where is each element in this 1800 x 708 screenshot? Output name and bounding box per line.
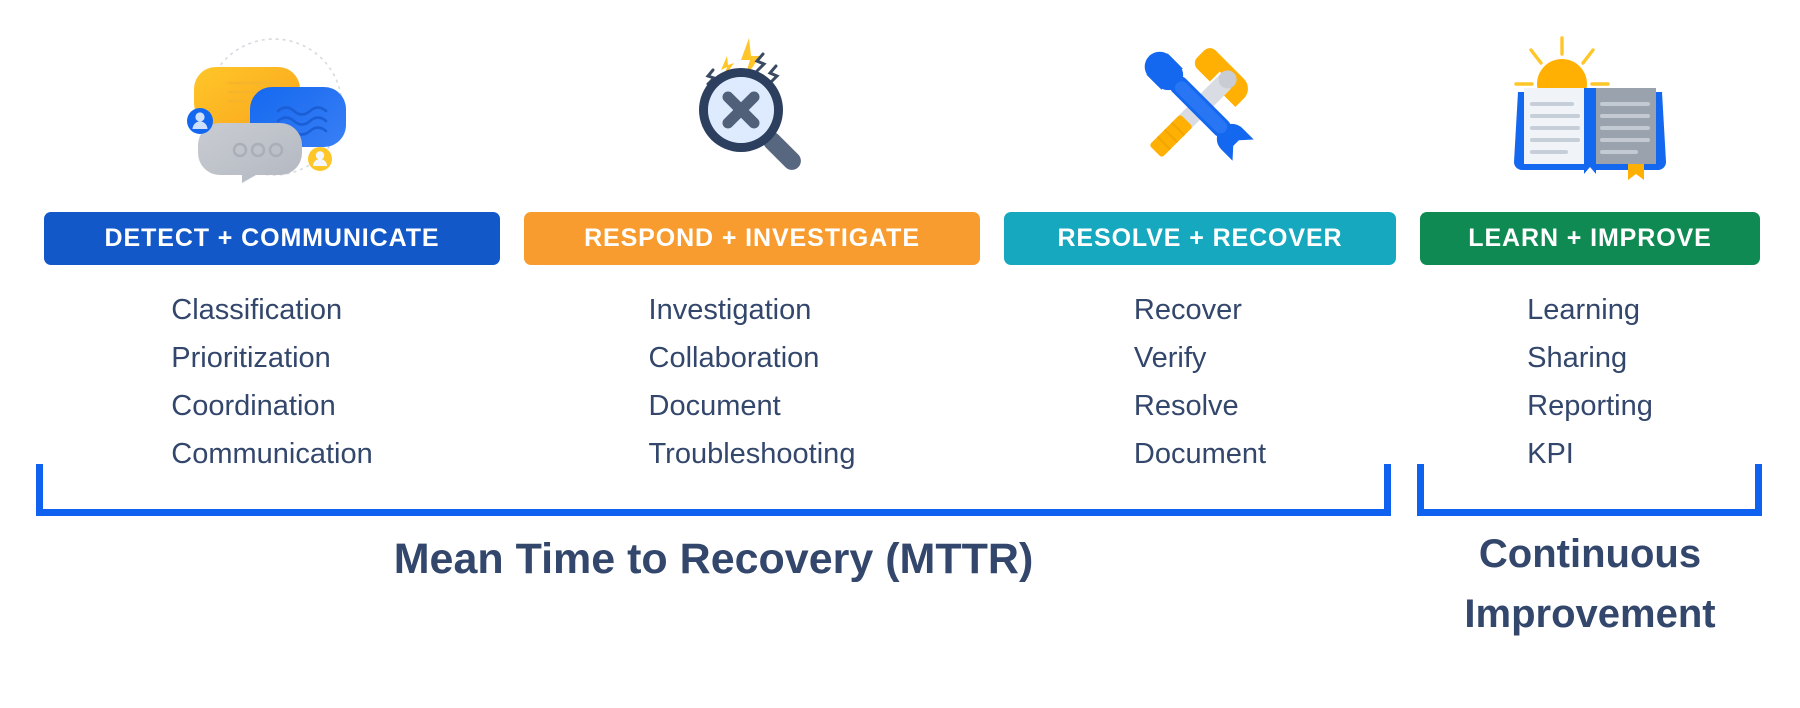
stage-column-detect-communicate: DETECT + COMMUNICATE Classification Prio… <box>44 0 500 520</box>
stage-items-detect-communicate: Classification Prioritization Coordinati… <box>44 286 500 478</box>
list-item: Investigation <box>649 286 856 334</box>
list-item: Prioritization <box>171 334 372 382</box>
stage-header-label: RESOLVE + RECOVER <box>1057 226 1342 251</box>
stage-items-resolve-recover: Recover Verify Resolve Document <box>1004 286 1396 478</box>
hammer-wrench-icon <box>1004 28 1396 186</box>
stage-column-respond-investigate: RESPOND + INVESTIGATE Investigation Coll… <box>524 0 980 520</box>
list-item: Collaboration <box>649 334 856 382</box>
book-lightbulb-icon <box>1420 28 1760 186</box>
stage-column-resolve-recover: RESOLVE + RECOVER Recover Verify Resolve… <box>1004 0 1396 520</box>
list-item: Reporting <box>1527 382 1653 430</box>
caption-continuous-improvement: Continuous Improvement <box>1400 524 1780 644</box>
stage-header-learn-improve[interactable]: LEARN + IMPROVE <box>1420 212 1760 265</box>
caption-mttr: Mean Time to Recovery (MTTR) <box>36 530 1391 588</box>
stage-column-learn-improve: LEARN + IMPROVE Learning Sharing Reporti… <box>1420 0 1760 520</box>
stage-header-label: LEARN + IMPROVE <box>1468 226 1711 251</box>
stage-header-resolve-recover[interactable]: RESOLVE + RECOVER <box>1004 212 1396 265</box>
list-item: Document <box>649 382 856 430</box>
list-item: Coordination <box>171 382 372 430</box>
list-item: Learning <box>1527 286 1653 334</box>
list-item: Recover <box>1134 286 1266 334</box>
caption-line-1: Continuous <box>1400 524 1780 584</box>
stage-items-learn-improve: Learning Sharing Reporting KPI <box>1420 286 1760 478</box>
list-item: Resolve <box>1134 382 1266 430</box>
stage-header-label: RESPOND + INVESTIGATE <box>584 226 920 251</box>
list-item: Classification <box>171 286 372 334</box>
stage-items-respond-investigate: Investigation Collaboration Document Tro… <box>524 286 980 478</box>
stage-header-label: DETECT + COMMUNICATE <box>105 226 440 251</box>
bracket-mttr <box>36 464 1391 516</box>
stage-header-respond-investigate[interactable]: RESPOND + INVESTIGATE <box>524 212 980 265</box>
caption-line-2: Improvement <box>1400 584 1780 644</box>
bracket-continuous-improvement <box>1417 464 1762 516</box>
speech-bubbles-icon <box>44 28 500 186</box>
incident-response-lifecycle-diagram: DETECT + COMMUNICATE Classification Prio… <box>0 0 1800 708</box>
list-item: Sharing <box>1527 334 1653 382</box>
stage-header-detect-communicate[interactable]: DETECT + COMMUNICATE <box>44 212 500 265</box>
magnifier-error-icon <box>524 28 980 186</box>
list-item: Verify <box>1134 334 1266 382</box>
